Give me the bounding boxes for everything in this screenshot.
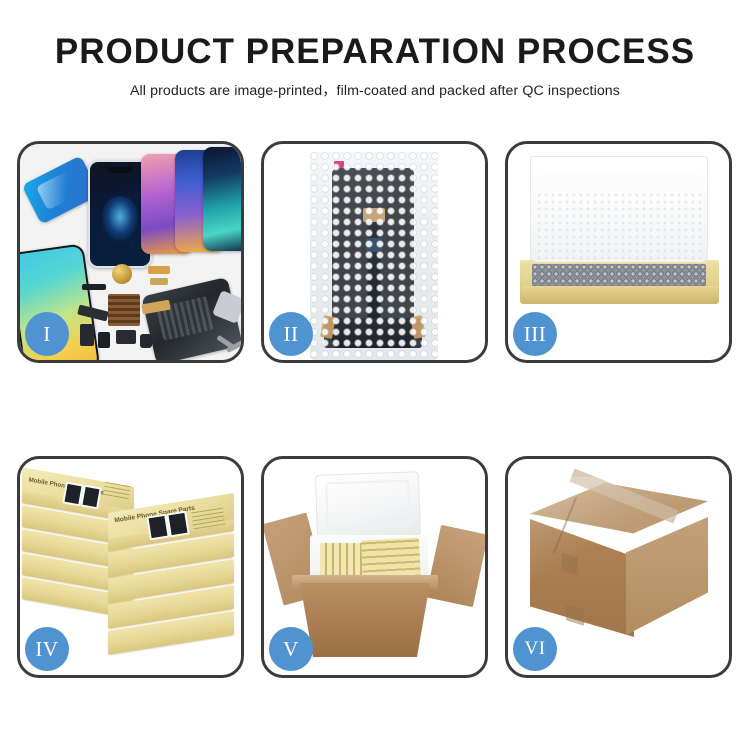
step-panel-2[interactable]: II [261,141,488,363]
teal-striped-phone [203,147,241,251]
spare-part-vibrator [140,334,152,348]
carton-body [300,583,430,657]
page-title: PRODUCT PREPARATION PROCESS [0,34,750,71]
step-panel-4[interactable]: Mobile Phone Spare Parts Mobile Phone Sp… [17,456,244,678]
step-panel-1[interactable]: I [17,141,244,363]
process-steps-grid: I II [17,141,733,678]
bubble-texture [310,152,438,360]
step-panel-6[interactable]: VI [505,456,732,678]
white-foam-sheet [536,192,702,264]
spare-part-camera-module [116,330,136,344]
step-badge-6: VI [513,627,557,671]
spare-part-button [80,324,94,346]
step-badge-1: I [25,312,69,356]
spare-part-flex-cable-1 [148,266,170,274]
spare-part-speaker [98,332,110,348]
kraft-box-front-panel [522,286,718,304]
box-screen-image-right-2 [166,511,190,538]
page-header: PRODUCT PREPARATION PROCESS All products… [0,0,750,100]
step-badge-2: II [269,312,313,356]
box-screen-image-left-2 [80,485,102,510]
foam-box-lid [315,471,421,541]
spare-part-chip-grid [108,294,140,326]
step-badge-3: III [513,312,557,356]
bubble-wrap-bag [310,152,438,360]
step-panel-5[interactable]: V [261,456,488,678]
step-badge-5: V [269,627,313,671]
step-panel-3[interactable]: III [505,141,732,363]
spare-part-connector [82,284,106,290]
spare-part-gold-coil [112,264,132,284]
page-subtitle: All products are image-printed，film-coat… [0,80,750,100]
spare-part-flex-cable-2 [150,278,168,285]
step-badge-4: IV [25,627,69,671]
